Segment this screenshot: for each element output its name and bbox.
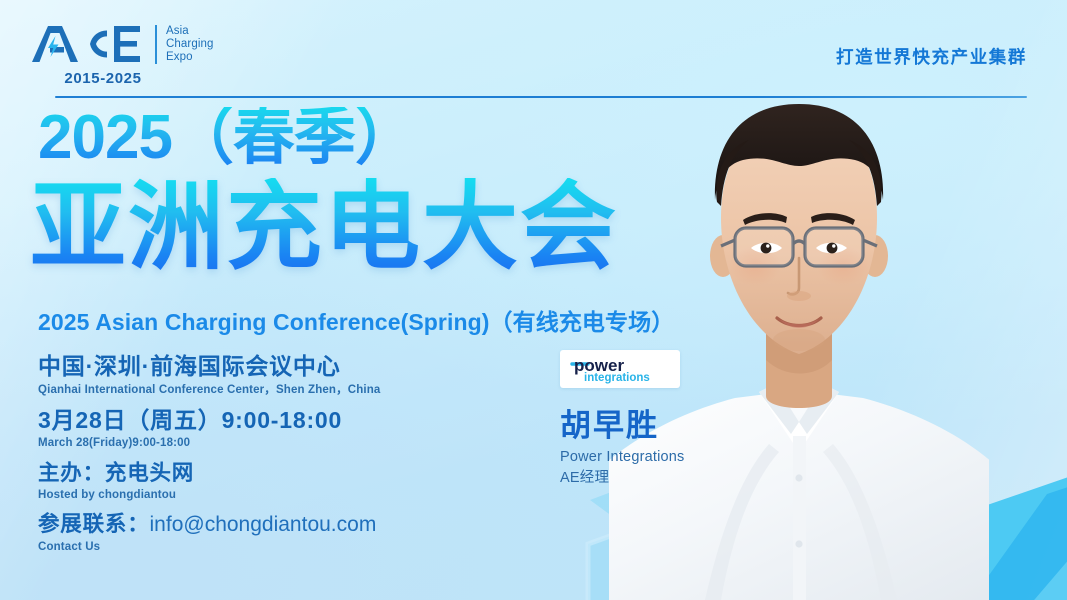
brand-tagline-line-3: Expo — [166, 51, 213, 64]
detail-datetime: 3月28日（周五）9:00-18:00 March 28(Friday)9:00… — [38, 406, 558, 453]
detail-venue: 中国·深圳·前海国际会议中心 Qianhai International Con… — [38, 352, 558, 399]
power-integrations-logo-icon: power integrations — [566, 353, 674, 385]
detail-host-en: Hosted by chongdiantou — [38, 487, 558, 504]
brand-tagline: Asia Charging Expo — [155, 25, 213, 64]
detail-datetime-cn: 3月28日（周五）9:00-18:00 — [38, 406, 558, 435]
brand-years: 2015-2025 — [28, 70, 178, 87]
contact-line: 参展联系：info@chongdiantou.com — [38, 511, 558, 538]
speaker-portrait-image — [609, 60, 989, 600]
detail-venue-en: Qianhai International Conference Center，… — [38, 382, 558, 399]
speaker-name: 胡早胜 — [560, 400, 659, 445]
hero-year-line: 2025（春季） — [38, 107, 416, 169]
ace-logo-icon — [28, 24, 146, 64]
detail-host-cn: 主办：充电头网 — [38, 460, 558, 487]
detail-venue-cn: 中国·深圳·前海国际会议中心 — [38, 352, 558, 381]
pi-word-integrations: integrations — [584, 372, 650, 384]
detail-datetime-en: March 28(Friday)9:00-18:00 — [38, 435, 558, 452]
hero-title-cn: 亚洲充电大会 — [30, 178, 618, 279]
event-details: 中国·深圳·前海国际会议中心 Qianhai International Con… — [38, 352, 558, 564]
contact-block[interactable]: 参展联系：info@chongdiantou.com Contact Us — [38, 511, 558, 556]
conference-banner: G Asia Charging — [0, 0, 1067, 600]
contact-label-en: Contact Us — [38, 539, 558, 556]
power-integrations-logo: power integrations — [560, 350, 680, 388]
hero-title-en: 2025 Asian Charging Conference(Spring)（有… — [38, 303, 674, 337]
speaker-portrait — [609, 60, 989, 600]
speaker-organization: Power Integrations — [560, 446, 685, 468]
detail-host: 主办：充电头网 Hosted by chongdiantou — [38, 460, 558, 505]
brand-logo[interactable]: Asia Charging Expo 2015-2025 — [28, 24, 213, 87]
contact-label-cn: 参展联系： — [38, 512, 150, 536]
speaker-role: AE经理 — [560, 467, 609, 489]
brand-tagline-line-1: Asia — [166, 25, 213, 38]
brand-tagline-line-2: Charging — [166, 38, 213, 51]
contact-email[interactable]: info@chongdiantou.com — [150, 513, 377, 536]
